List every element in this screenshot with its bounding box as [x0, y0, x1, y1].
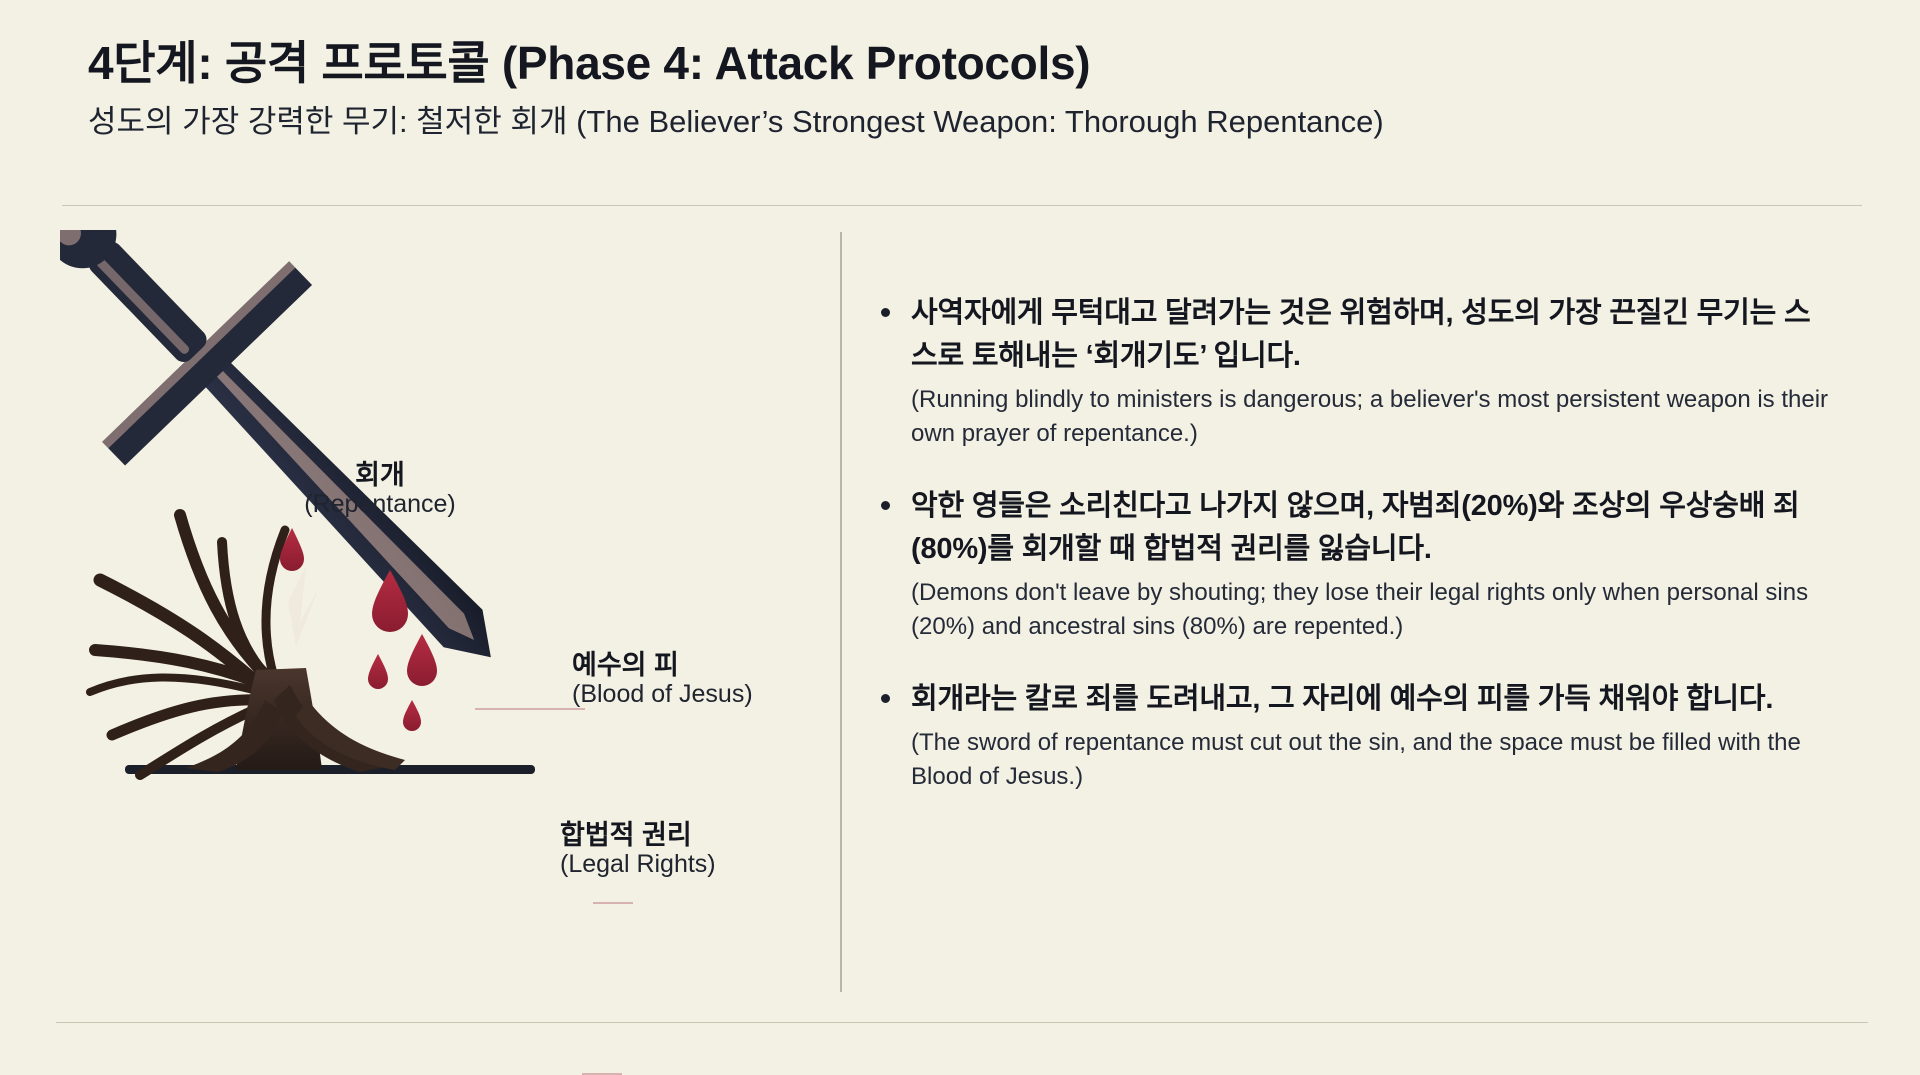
diagram-label-blood-of-jesus: 예수의 피 (Blood of Jesus): [572, 650, 753, 709]
bullet-text-en: (Demons don't leave by shouting; they lo…: [911, 576, 1835, 644]
bullet-text-ko: 사역자에게 무턱대고 달려가는 것은 위험하며, 성도의 가장 끈질긴 무기는 …: [911, 292, 1835, 378]
bullet-dot-icon: [881, 694, 890, 703]
slide-root: 4단계: 공격 프로토콜 (Phase 4: Attack Protocols)…: [0, 0, 1920, 1071]
leader-line-blood: [593, 902, 633, 904]
leader-line-repentance: [475, 708, 585, 710]
bullet-text-en: (The sword of repentance must cut out th…: [911, 726, 1835, 794]
diagram-label-legal-rights-en: (Legal Rights): [560, 850, 716, 879]
list-item: 사역자에게 무턱대고 달려가는 것은 위험하며, 성도의 가장 끈질긴 무기는 …: [875, 292, 1835, 451]
footer-divider-rule: [56, 1022, 1868, 1023]
header: 4단계: 공격 프로토콜 (Phase 4: Attack Protocols)…: [88, 38, 1848, 139]
diagram-label-blood-of-jesus-en: (Blood of Jesus): [572, 680, 753, 709]
diagram-label-blood-of-jesus-ko: 예수의 피: [572, 650, 753, 680]
header-divider-rule: [62, 205, 1862, 206]
ground-line: [125, 765, 535, 774]
bullet-dot-icon: [881, 501, 890, 510]
diagram-label-repentance: 회개 (Repentance): [280, 460, 480, 519]
diagram-label-legal-rights: 합법적 권리 (Legal Rights): [560, 820, 716, 879]
diagram-label-repentance-ko: 회개: [280, 460, 480, 490]
bullet-list: 사역자에게 무턱대고 달려가는 것은 위험하며, 성도의 가장 끈질긴 무기는 …: [875, 292, 1835, 794]
column-divider: [840, 232, 842, 992]
list-item: 악한 영들은 소리친다고 나가지 않으며, 자범죄(20%)와 조상의 우상숭배…: [875, 485, 1835, 644]
page-title: 4단계: 공격 프로토콜 (Phase 4: Attack Protocols): [88, 38, 1848, 90]
diagram-label-repentance-en: (Repentance): [280, 490, 480, 519]
page-subtitle: 성도의 가장 강력한 무기: 철저한 회개 (The Believer’s St…: [88, 104, 1848, 140]
list-item: 회개라는 칼로 죄를 도려내고, 그 자리에 예수의 피를 가득 채워야 합니다…: [875, 678, 1835, 794]
bullet-text-ko: 회개라는 칼로 죄를 도려내고, 그 자리에 예수의 피를 가득 채워야 합니다…: [911, 678, 1835, 721]
blade-gleam: [288, 566, 318, 646]
diagram-label-legal-rights-ko: 합법적 권리: [560, 820, 716, 850]
bullet-text-en: (Running blindly to ministers is dangero…: [911, 383, 1835, 451]
bullet-dot-icon: [881, 308, 890, 317]
bullet-text-ko: 악한 영들은 소리친다고 나가지 않으며, 자범죄(20%)와 조상의 우상숭배…: [911, 485, 1835, 571]
